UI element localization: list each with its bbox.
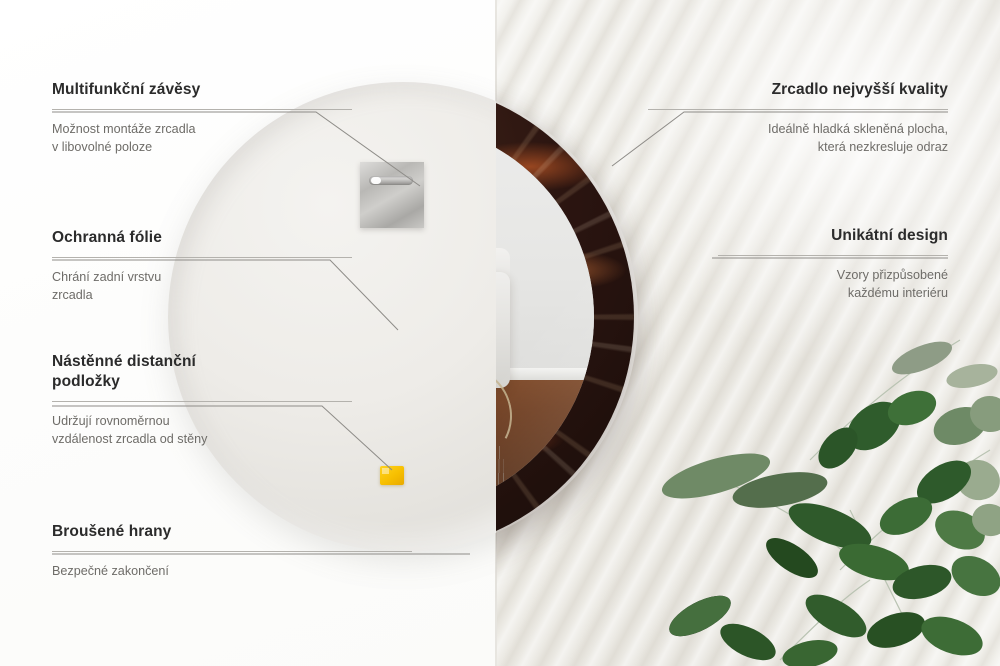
callout-edges-rule	[52, 551, 412, 552]
callout-hangers-rule	[52, 109, 352, 110]
callout-foil-body: Chrání zadní vrstvu zrcadla	[52, 268, 352, 305]
foliage-decoration	[660, 330, 1000, 666]
reflected-wall	[496, 122, 594, 374]
callout-design: Unikátní design Vzory přizpůsobené každé…	[718, 226, 948, 303]
callout-quality-body-line1: Ideálně hladká skleněná plocha,	[768, 122, 948, 136]
infographic-canvas: Multifunkční závěsy Možnost montáže zrca…	[0, 0, 1000, 666]
callout-design-rule	[718, 255, 948, 256]
reflected-sofa	[496, 272, 510, 388]
callout-spacers-body-line1: Udržují rovnoměrnou	[52, 414, 170, 428]
callout-spacers-title: Nástěnné distanční podložky	[52, 352, 352, 392]
callout-foil-title: Ochranná fólie	[52, 228, 352, 248]
callout-spacers-body: Udržují rovnoměrnou vzdálenost zrcadla o…	[52, 412, 352, 449]
callout-hangers-body-line2: v libovolné poloze	[52, 140, 152, 154]
callout-foil: Ochranná fólie Chrání zadní vrstvu zrcad…	[52, 228, 352, 305]
callout-edges: Broušené hrany Bezpečné zakončení	[52, 522, 412, 580]
reflected-rug	[496, 438, 504, 512]
callout-spacers-title-line2: podložky	[52, 373, 120, 390]
callout-quality-body: Ideálně hladká skleněná plocha, která ne…	[648, 120, 948, 157]
callout-edges-body: Bezpečné zakončení	[52, 562, 412, 581]
callout-design-body-line1: Vzory přizpůsobené	[837, 268, 948, 282]
callout-foil-body-line2: zrcadla	[52, 288, 93, 302]
callout-spacers-title-line1: Nástěnné distanční	[52, 353, 196, 370]
callout-quality: Zrcadlo nejvyšší kvality Ideálně hladká …	[648, 80, 948, 157]
wall-spacer-pad	[380, 466, 404, 485]
callout-design-body: Vzory přizpůsobené každému interiéru	[718, 266, 948, 303]
callout-spacers-body-line2: vzdálenost zrcadla od stěny	[52, 432, 207, 446]
callout-quality-body-line2: která nezkresluje odraz	[818, 140, 948, 154]
callout-foil-body-line1: Chrání zadní vrstvu	[52, 270, 161, 284]
callout-design-title: Unikátní design	[718, 226, 948, 246]
callout-hangers-title: Multifunkční závěsy	[52, 80, 352, 100]
mirror-glass-reflection	[496, 122, 594, 512]
hanging-bracket	[360, 162, 424, 228]
callout-quality-rule	[648, 109, 948, 110]
reflected-wood-floor	[496, 380, 594, 512]
callout-hangers-body: Možnost montáže zrcadla v libovolné polo…	[52, 120, 352, 157]
callout-design-body-line2: každému interiéru	[848, 286, 948, 300]
callout-edges-title: Broušené hrany	[52, 522, 412, 542]
callout-spacers: Nástěnné distanční podložky Udržují rovn…	[52, 352, 352, 449]
callout-foil-rule	[52, 257, 352, 258]
callout-spacers-rule	[52, 401, 352, 402]
callout-hangers: Multifunkční závěsy Možnost montáže zrca…	[52, 80, 352, 157]
callout-hangers-body-line1: Možnost montáže zrcadla	[52, 122, 196, 136]
callout-quality-title: Zrcadlo nejvyšší kvality	[648, 80, 948, 100]
bracket-keyhole-slot	[369, 176, 413, 185]
